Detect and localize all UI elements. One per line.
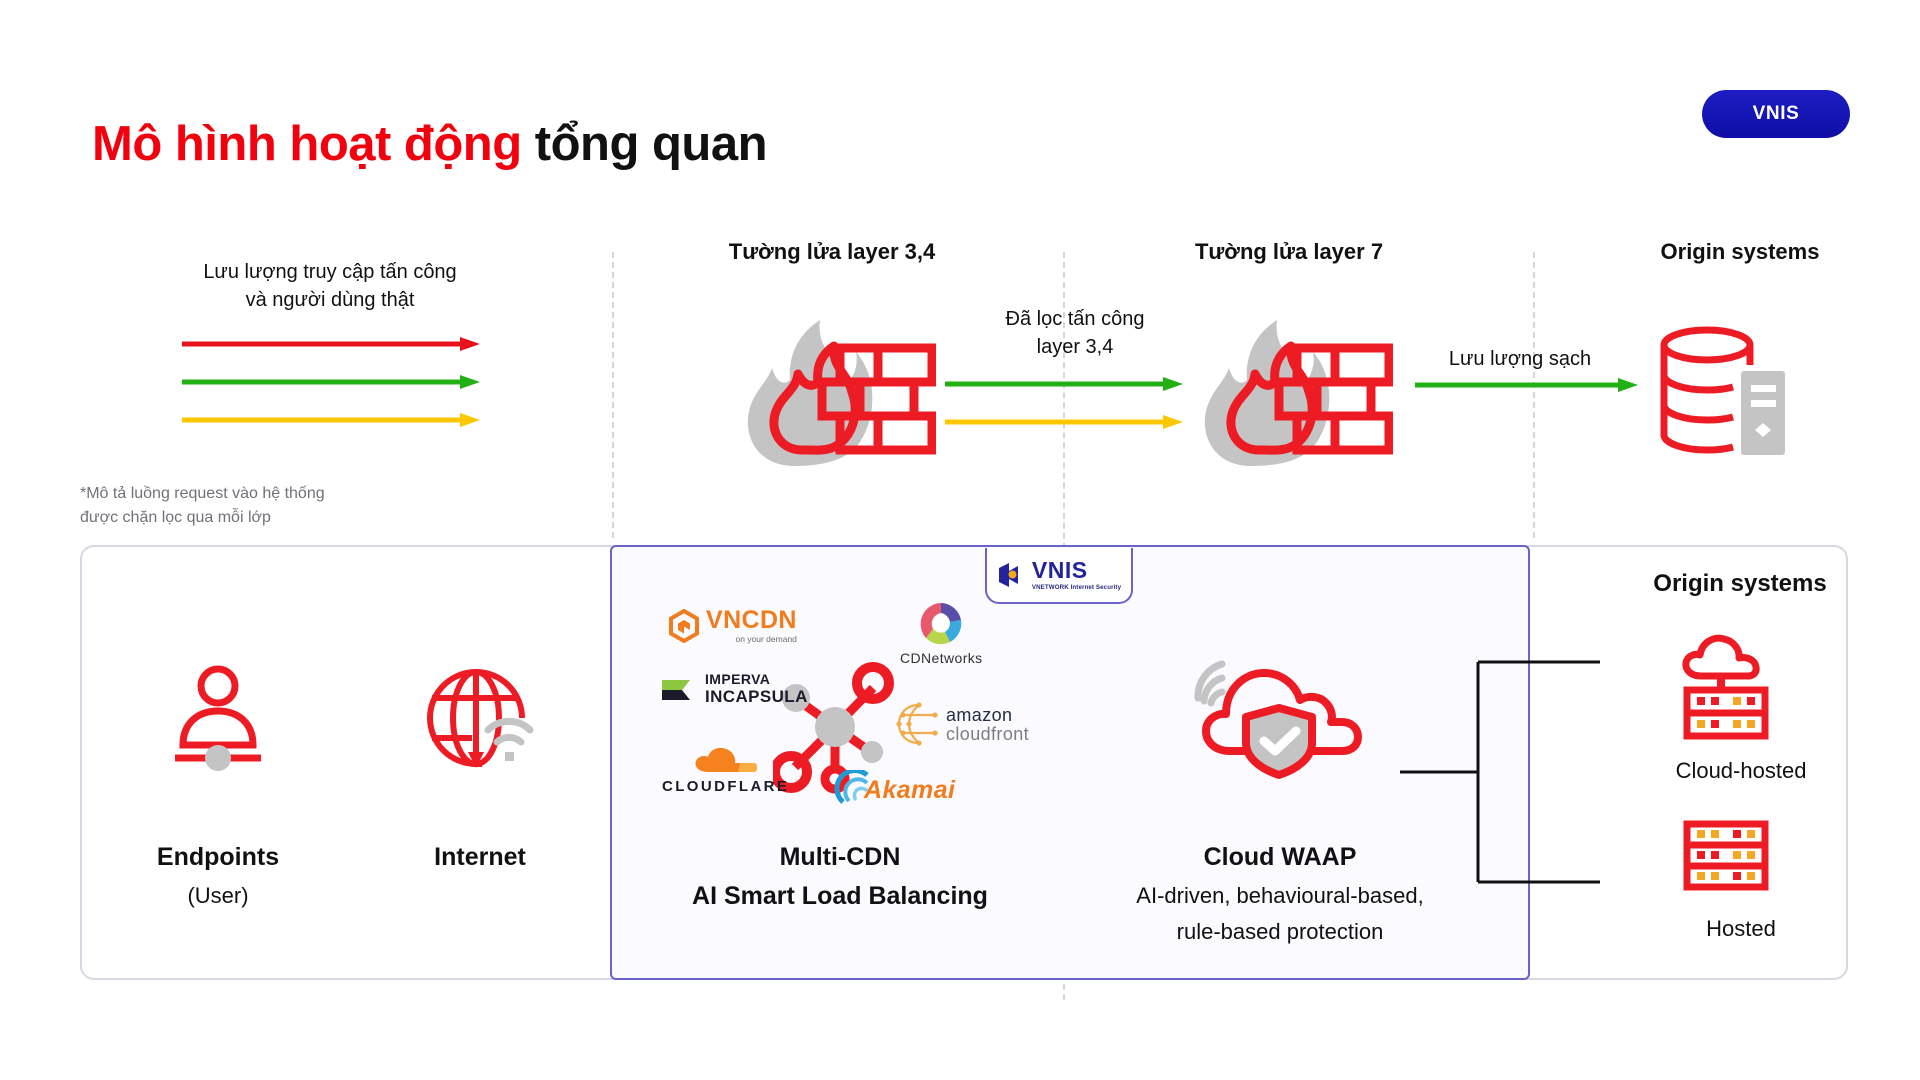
logo-amazon-cloudfront: amazon cloudfront <box>896 702 1029 746</box>
page-title: Mô hình hoạt động tổng quan <box>92 116 767 172</box>
multicdn-title: Multi-CDN <box>660 843 1020 872</box>
vnis-cube-icon <box>997 562 1027 588</box>
user-endpoint-icon <box>163 663 273 773</box>
cloud-hosted-label: Cloud-hosted <box>1606 758 1876 784</box>
waap-subtitle-line2: rule-based protection <box>1085 919 1475 945</box>
logo-cdnetworks-word: CDNetworks <box>900 651 983 665</box>
logo-imperva-word: IMPERVA <box>705 672 808 686</box>
logo-incapsula-word: INCAPSULA <box>705 688 808 705</box>
logo-cloudflare: CLOUDFLARE <box>662 746 789 794</box>
logo-akamai-word: Akamai <box>864 778 955 803</box>
header-origin-systems-bottom: Origin systems <box>1608 570 1872 598</box>
diagram-canvas: Mô hình hoạt động tổng quan VNIS Tường l… <box>0 0 1920 1080</box>
arrow-yellow-left <box>180 413 480 427</box>
vnis-logo-tagline: VNETWORK Internet Security <box>1032 584 1121 591</box>
firewall-icon-layer34 <box>736 318 936 468</box>
logo-imperva-incapsula: IMPERVA INCAPSULA <box>660 672 808 705</box>
multicdn-logo-cluster: VNCDN on your demand IMPERVA INCAPSULA C… <box>668 600 988 840</box>
dashed-separator-3 <box>1533 252 1535 538</box>
page-title-rest: tổng quan <box>522 117 767 171</box>
multicdn-subtitle: AI Smart Load Balancing <box>660 882 1020 911</box>
logo-cloudflare-word: CLOUDFLARE <box>662 779 789 794</box>
logo-vncdn-sub: on your demand <box>706 635 797 644</box>
arrow-green-mid <box>943 377 1183 391</box>
logo-vncdn: VNCDN on your demand <box>668 608 797 644</box>
left-traffic-caption-line1: Lưu lượng truy cập tấn công <box>130 258 530 286</box>
vnis-badge[interactable]: VNIS <box>1702 90 1850 138</box>
mid-filtered-caption-line1: Đã lọc tấn công <box>930 305 1220 333</box>
internet-title: Internet <box>360 843 600 872</box>
page-title-highlight: Mô hình hoạt động <box>92 117 522 171</box>
vncdn-hex-icon <box>668 609 700 643</box>
clean-traffic-caption: Lưu lượng sạch <box>1405 345 1635 373</box>
header-firewall-l7: Tường lửa layer 7 <box>1157 239 1421 265</box>
arrow-red-left <box>180 337 480 351</box>
cdnetworks-swirl-icon <box>916 600 966 648</box>
logo-amazon-word: amazon <box>946 706 1029 724</box>
vnis-logo-wordmark: VNIS <box>1032 559 1088 582</box>
arrow-green-left <box>180 375 480 389</box>
cloudflare-cloud-icon <box>692 746 760 776</box>
database-server-icon <box>1655 323 1805 463</box>
logo-akamai: Akamai <box>833 770 955 810</box>
cloud-shield-icon <box>1190 655 1370 785</box>
header-firewall-l34: Tường lửa layer 3,4 <box>700 239 964 265</box>
vnis-logo-tab: VNIS VNETWORK Internet Security <box>985 548 1133 604</box>
cloud-hosted-icon <box>1671 634 1781 744</box>
endpoints-subtitle: (User) <box>98 883 338 909</box>
globe-wifi-icon <box>420 660 540 775</box>
hosted-label: Hosted <box>1606 916 1876 942</box>
hosted-server-icon <box>1673 818 1779 898</box>
arrow-yellow-mid <box>943 415 1183 429</box>
footnote-line1: *Mô tả luồng request vào hệ thống <box>80 482 325 506</box>
header-origin-systems-top: Origin systems <box>1608 239 1872 265</box>
mid-filtered-caption-line2: layer 3,4 <box>930 333 1220 361</box>
dashed-separator-1 <box>612 252 614 538</box>
footnote-line2: được chặn lọc qua mỗi lớp <box>80 506 325 530</box>
imperva-mark-icon <box>660 674 700 704</box>
logo-cdnetworks: CDNetworks <box>900 600 983 665</box>
cloudfront-mesh-icon <box>896 702 942 746</box>
left-traffic-caption-line2: và người dùng thật <box>130 286 530 314</box>
logo-cloudfront-word: cloudfront <box>946 725 1029 743</box>
mid-filtered-caption: Đã lọc tấn công layer 3,4 <box>930 305 1220 362</box>
endpoints-title: Endpoints <box>98 843 338 872</box>
arrow-green-right <box>1413 378 1638 392</box>
firewall-icon-layer7 <box>1193 318 1393 468</box>
left-traffic-caption: Lưu lượng truy cập tấn công và người dùn… <box>130 258 530 315</box>
vnis-badge-label: VNIS <box>1753 103 1800 125</box>
footnote: *Mô tả luồng request vào hệ thống được c… <box>80 482 325 530</box>
logo-vncdn-word: VNCDN <box>706 608 797 633</box>
